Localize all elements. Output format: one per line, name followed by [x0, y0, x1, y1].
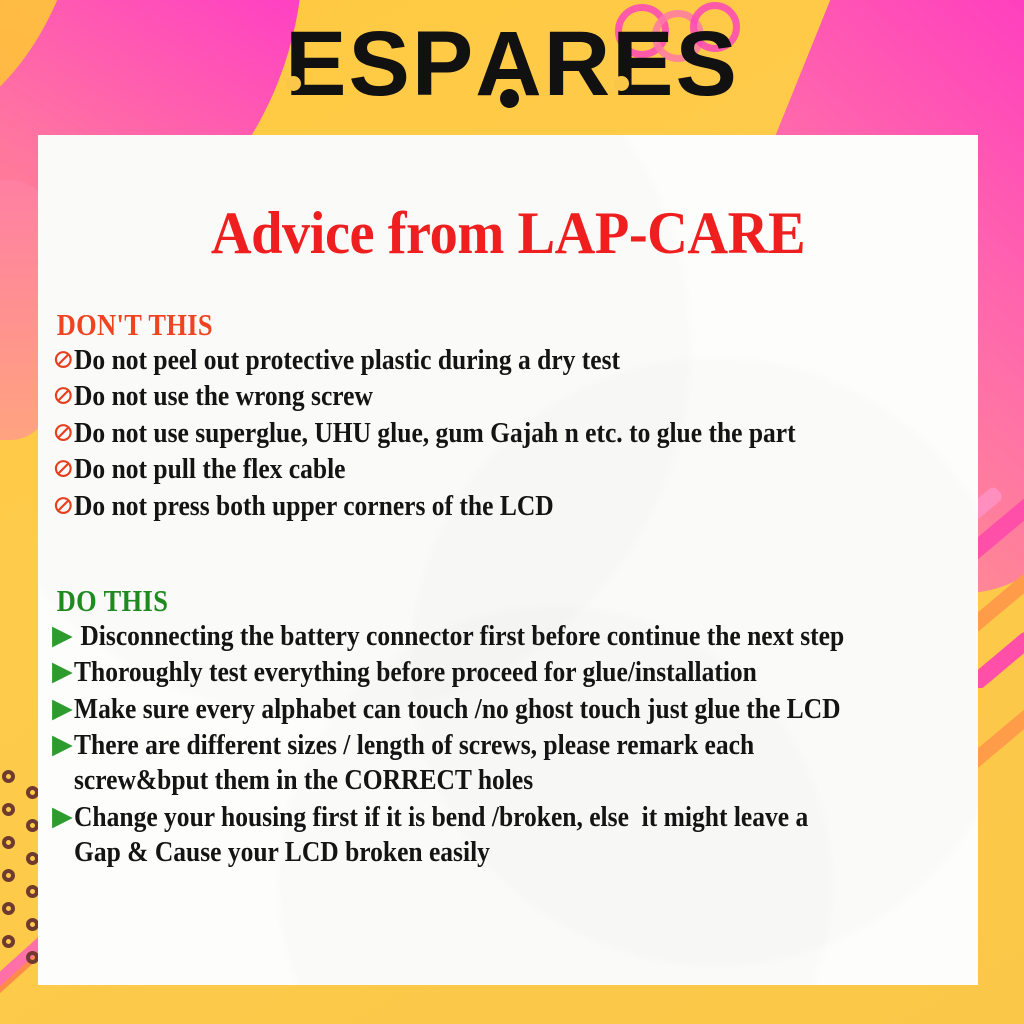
polka-dot: [2, 803, 15, 816]
do-item-text: Change your housing first if it is bend …: [74, 800, 870, 871]
poster-canvas: ESPARES Advice from LAP-CARE DON'T THIS …: [0, 0, 1024, 1024]
logo-letter-s1: S: [348, 18, 411, 110]
logo-letter-r: R: [544, 18, 612, 110]
do-item-text: Thoroughly test everything before procee…: [74, 655, 870, 690]
prohibition-icon: ⊘: [38, 416, 74, 449]
do-item-text: Disconnecting the battery connector firs…: [74, 619, 870, 654]
polka-dot: [2, 935, 15, 948]
dont-item-text: Do not peel out protective plastic durin…: [74, 343, 870, 378]
list-item: ▶Make sure every alphabet can touch /no …: [38, 692, 978, 728]
page-title: Advice from LAP-CARE: [66, 135, 950, 263]
list-item: ⊘Do not peel out protective plastic duri…: [38, 343, 978, 379]
triangle-right-icon: ▶: [38, 619, 74, 652]
advice-card: Advice from LAP-CARE DON'T THIS ⊘Do not …: [38, 135, 978, 985]
do-item-text: Make sure every alphabet can touch /no g…: [74, 692, 870, 727]
dont-item-text: Do not pull the flex cable: [74, 452, 870, 487]
polka-dot-column: [0, 770, 42, 970]
prohibition-icon: ⊘: [38, 343, 74, 376]
dont-list: ⊘Do not peel out protective plastic duri…: [38, 343, 978, 525]
polka-dot: [2, 770, 15, 783]
logo-letter-a: A: [475, 18, 543, 110]
prohibition-icon: ⊘: [38, 489, 74, 522]
logo-letter-s2: S: [676, 18, 739, 110]
list-item: ▶ Disconnecting the battery connector fi…: [38, 619, 978, 655]
list-item: ⊘Do not use the wrong screw: [38, 379, 978, 415]
prohibition-icon: ⊘: [38, 379, 74, 412]
logo-letter-e2: E: [612, 18, 675, 110]
do-list: ▶ Disconnecting the battery connector fi…: [38, 619, 978, 872]
polka-dot: [2, 902, 15, 915]
list-item: ▶There are different sizes / length of s…: [38, 728, 978, 800]
polka-dot: [2, 869, 15, 882]
list-item: ⊘Do not pull the flex cable: [38, 452, 978, 488]
list-item: ▶Change your housing first if it is bend…: [38, 800, 978, 872]
triangle-right-icon: ▶: [38, 655, 74, 688]
dont-item-text: Do not press both upper corners of the L…: [74, 489, 870, 524]
espares-logo: ESPARES: [0, 18, 1024, 110]
logo-letter-e1: E: [285, 18, 348, 110]
dont-item-text: Do not use the wrong screw: [74, 379, 870, 414]
logo-letter-p: P: [412, 18, 475, 110]
do-item-text: There are different sizes / length of sc…: [74, 728, 870, 799]
dont-item-text: Do not use superglue, UHU glue, gum Gaja…: [74, 416, 870, 451]
polka-dot: [2, 836, 15, 849]
triangle-right-icon: ▶: [38, 692, 74, 725]
list-item: ⊘Do not press both upper corners of the …: [38, 489, 978, 525]
section-heading-dont: DON'T THIS: [38, 263, 837, 343]
prohibition-icon: ⊘: [38, 452, 74, 485]
section-heading-do: DO THIS: [38, 525, 837, 619]
triangle-right-icon: ▶: [38, 800, 74, 833]
list-item: ⊘Do not use superglue, UHU glue, gum Gaj…: [38, 416, 978, 452]
logo-dot-e2: [614, 76, 629, 91]
triangle-right-icon: ▶: [38, 728, 74, 761]
list-item: ▶Thoroughly test everything before proce…: [38, 655, 978, 691]
